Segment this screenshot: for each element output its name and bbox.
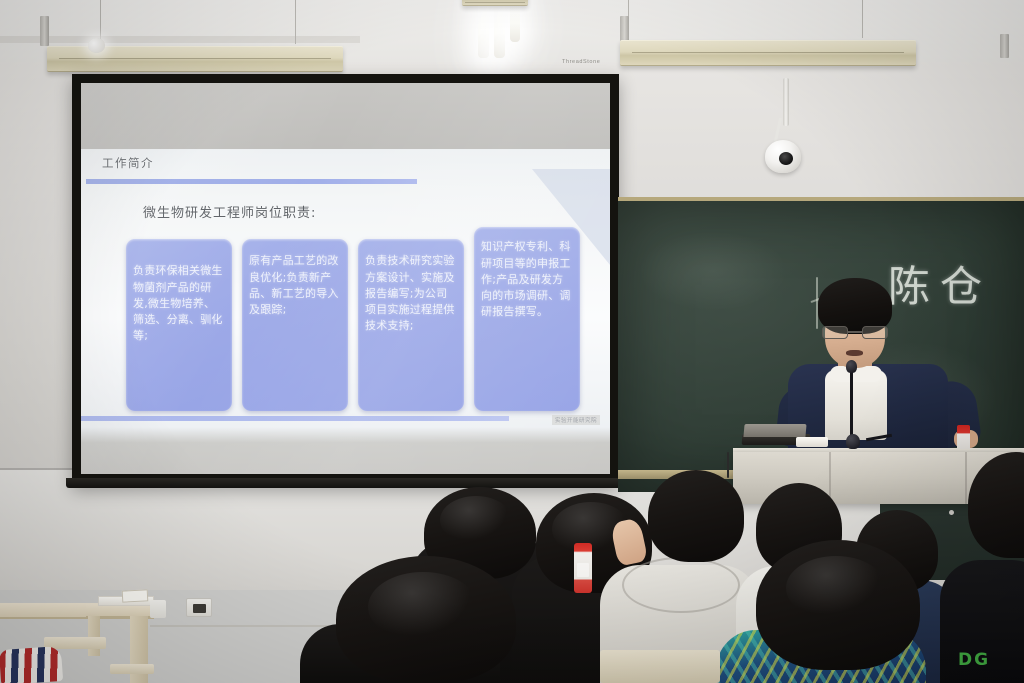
- wall-power-socket[interactable]: [186, 598, 212, 617]
- speaker-mouth: [846, 350, 863, 356]
- fluorescent-tube: [494, 0, 505, 58]
- slide-box-3-text: 负责技术研究实验方案设计、实施及报告编写;为公司项目实施过程提供技术支持;: [365, 253, 457, 334]
- slide-box-1-text: 负责环保相关微生物菌剂产品的研发,微生物培养、筛选、分离、驯化等;: [133, 263, 225, 344]
- slide-title: 工作简介: [102, 155, 154, 171]
- light-wire: [862, 0, 863, 38]
- podium-microphone-icon: [846, 434, 860, 449]
- glasses-left-lens: [822, 326, 848, 339]
- audience-water-bottle: [574, 543, 592, 593]
- audience-head-front-2: [756, 540, 920, 670]
- paper-card: [122, 589, 149, 602]
- lamp-cap: [88, 38, 105, 53]
- light-wire: [295, 0, 296, 44]
- slide-box-4-text: 知识产权专利、科研项目等的申报工作;产品及研发方向的市场调研、调研报告撰写。: [481, 239, 573, 320]
- podium-cable: [727, 452, 729, 478]
- slide-content-boxes: 负责环保相关微生物菌剂产品的研发,微生物培养、筛选、分离、驯化等; 原有产品工艺…: [126, 239, 580, 411]
- hoodie-hood-seam: [622, 557, 740, 613]
- slide-title-underline-bar: [86, 179, 417, 184]
- left-bench-2: [110, 664, 154, 674]
- microphone-head-icon: [846, 360, 857, 373]
- classroom-scene: ThreadStone 工作简介 微生物研发工程师岗位职责: 负责环保相关微生物…: [0, 0, 1024, 683]
- slide-footer-bar: [81, 416, 509, 421]
- podium-seam: [965, 452, 967, 504]
- slide-box-4: 知识产权专利、科研项目等的申报工作;产品及研发方向的市场调研、调研报告撰写。: [474, 227, 580, 411]
- projection-screen: 工作简介 微生物研发工程师岗位职责: 负责环保相关微生物菌剂产品的研发,微生物培…: [72, 74, 619, 485]
- chair-back: [600, 650, 720, 683]
- speaker-glasses-icon: [822, 326, 888, 339]
- slide-footnote: 实验开能研究院: [552, 415, 600, 425]
- slide-box-2: 原有产品工艺的改良优化;负责新产品、新工艺的导入及跟踪;: [242, 239, 348, 411]
- camera-pole: [783, 78, 789, 126]
- microphone-stand: [850, 372, 853, 440]
- panel-indicator-dot: [949, 510, 954, 515]
- slide-header-shade: [81, 83, 610, 149]
- wall-junction-box: [150, 600, 166, 618]
- fluorescent-tube: [510, 0, 520, 42]
- audience-head-hoodie: [648, 470, 744, 562]
- glasses-right-lens: [862, 326, 888, 339]
- audience-head-front-1: [336, 556, 516, 683]
- light-bracket: [1000, 34, 1009, 58]
- glasses-bridge: [848, 331, 862, 333]
- left-desk-leg-2: [88, 616, 100, 656]
- podium-white-object: [796, 437, 828, 447]
- striped-scarf: [0, 646, 63, 683]
- light-bracket: [40, 16, 49, 46]
- chalk-smudge: [638, 231, 788, 311]
- fluorescent-tube: [478, 0, 489, 58]
- slide-box-3: 负责技术研究实验方案设计、实施及报告编写;为公司项目实施过程提供技术支持;: [358, 239, 464, 411]
- ceiling-light-right: [620, 40, 916, 66]
- tshirt-print-text: DG: [958, 650, 990, 670]
- screen-surface: 工作简介 微生物研发工程师岗位职责: 负责环保相关微生物菌剂产品的研发,微生物培…: [81, 83, 610, 474]
- screen-bottom-roller: [66, 478, 625, 488]
- slide-box-2-text: 原有产品工艺的改良优化;负责新产品、新工艺的导入及跟踪;: [249, 253, 341, 318]
- laptop-lid[interactable]: [743, 424, 806, 437]
- camera-lens-icon: [779, 152, 793, 165]
- screen-brand-label: ThreadStone: [562, 59, 600, 65]
- slide-box-1: 负责环保相关微生物菌剂产品的研发,微生物培养、筛选、分离、驯化等;: [126, 239, 232, 411]
- slide-subtitle: 微生物研发工程师岗位职责:: [143, 202, 316, 221]
- ceiling-trim: [0, 36, 360, 43]
- ceiling-light-center: [462, 0, 528, 6]
- podium-water-bottle: [957, 425, 970, 449]
- presentation-slide: 工作简介 微生物研发工程师岗位职责: 负责环保相关微生物菌剂产品的研发,微生物培…: [81, 83, 610, 474]
